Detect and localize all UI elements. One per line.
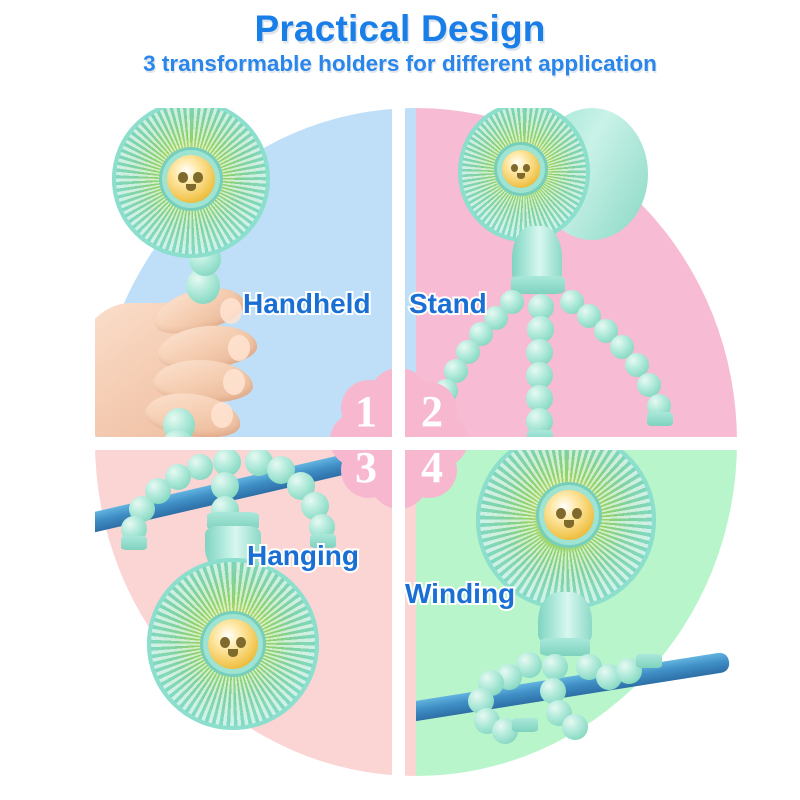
hub-eye-right-icon	[193, 172, 203, 183]
fan-hub	[167, 155, 215, 203]
fan-neck	[538, 592, 592, 644]
hub-eye-right-icon	[236, 637, 246, 648]
page-title: Practical Design	[0, 0, 800, 49]
fan-hub	[208, 619, 258, 669]
hub-eye-left-icon	[220, 637, 230, 648]
hub-mouth-icon	[564, 520, 574, 528]
caption-hanging: Hanging	[247, 540, 359, 572]
fingernail	[211, 402, 233, 428]
leg-segment	[562, 714, 588, 740]
hub-face-icon	[544, 490, 594, 540]
header: Practical Design 3 transformable holders…	[0, 0, 800, 96]
hub-face-icon	[167, 155, 215, 203]
caption-handheld: Handheld	[243, 288, 371, 320]
badge-number-1: 1	[336, 390, 396, 434]
fingernail	[228, 335, 250, 361]
hub-eye-left-icon	[556, 508, 566, 519]
fan-hub	[502, 150, 540, 188]
caption-stand: Stand	[409, 288, 487, 320]
badge-number-3: 3	[336, 446, 396, 490]
leg-foot	[647, 412, 673, 426]
hub-eye-right-icon	[523, 164, 531, 172]
fingernail	[223, 369, 245, 395]
hub-mouth-icon	[228, 649, 238, 657]
hub-mouth-icon	[186, 184, 196, 192]
leg-foot	[636, 654, 662, 668]
hub-eye-left-icon	[178, 172, 188, 183]
leg-foot	[121, 536, 147, 550]
quadrant-divider-horizontal	[0, 437, 800, 450]
fan-head	[458, 108, 590, 242]
fan-hub	[544, 490, 594, 540]
leg-hub-collar	[511, 276, 565, 294]
caption-winding: Winding	[405, 578, 515, 610]
fingernail	[220, 298, 242, 324]
hub-eye-left-icon	[511, 164, 519, 172]
badge-number-4: 4	[402, 446, 462, 490]
hub-face-icon	[502, 150, 540, 188]
fan-head	[112, 108, 270, 258]
hub-face-icon	[208, 619, 258, 669]
page-subtitle: 3 transformable holders for different ap…	[0, 49, 800, 77]
fan-head	[147, 558, 319, 730]
hub-mouth-icon	[517, 173, 525, 179]
leg-segment	[542, 654, 568, 680]
badge-number-2: 2	[402, 390, 462, 434]
leg-foot	[512, 718, 538, 732]
hub-eye-right-icon	[572, 508, 582, 519]
leg-hub-collar	[540, 638, 590, 656]
